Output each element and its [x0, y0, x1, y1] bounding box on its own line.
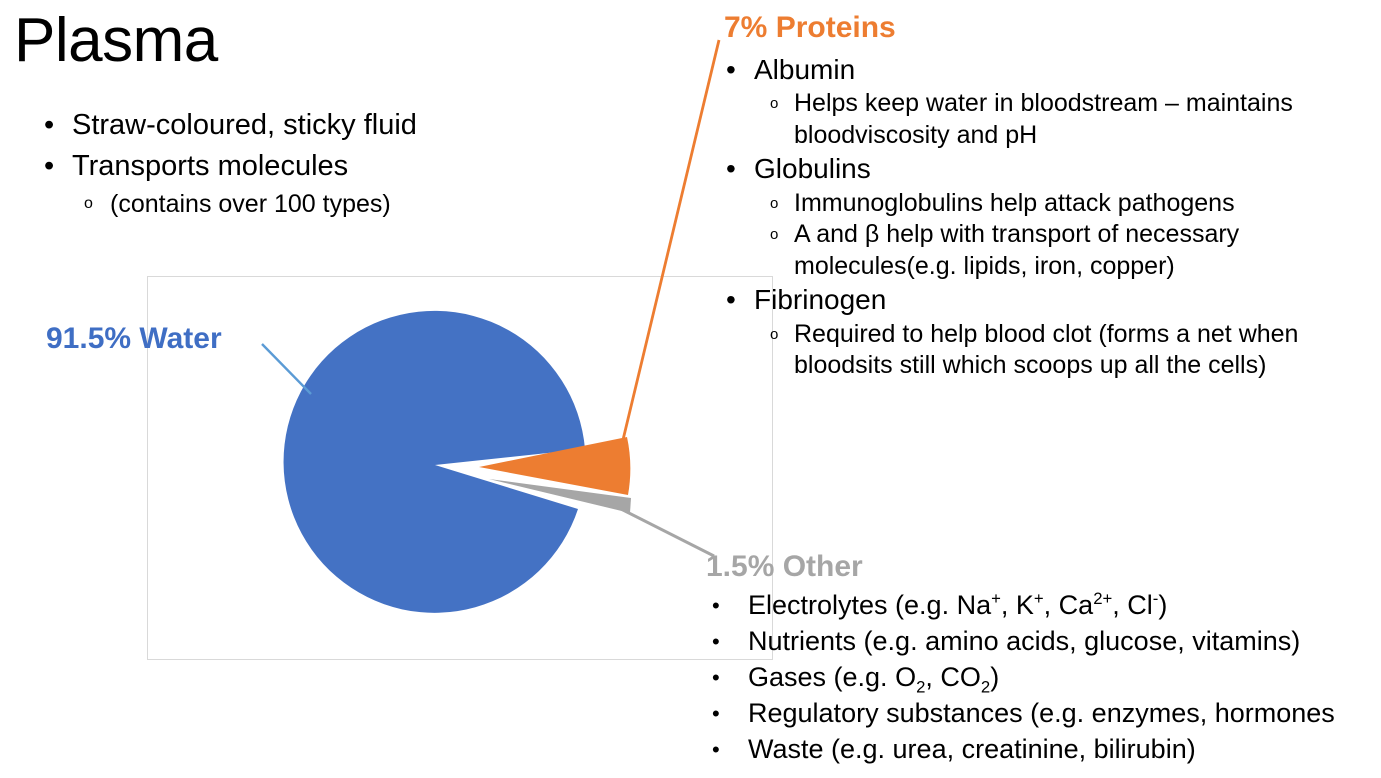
proteins-detail-list: • Albumin o Helps keep water in bloodstr…	[716, 52, 1381, 382]
list-item: o Required to help blood clot (forms a n…	[716, 319, 1381, 382]
list-item: • Albumin	[716, 52, 1381, 88]
list-item-label: Immunoglobulins help attack pathogens	[794, 189, 1235, 217]
list-item-label: Helps keep water in bloodstream – mainta…	[794, 89, 1293, 149]
page-title: Plasma	[14, 8, 218, 74]
bullet-circle-icon: o	[770, 319, 778, 350]
list-item-label: Gases (e.g. O2, CO2)	[748, 662, 999, 692]
list-item-label: A and β help with transport of necessary…	[794, 220, 1239, 280]
bullet-dot-icon: •	[726, 151, 736, 187]
list-item-label: Waste (e.g. urea, creatinine, bilirubin)	[748, 734, 1196, 764]
list-item: o Immunoglobulins help attack pathogens	[716, 188, 1381, 220]
list-item: • Straw-coloured, sticky fluid	[36, 105, 676, 146]
pie-label-water: 91.5% Water	[46, 322, 222, 356]
list-item-label: Albumin	[754, 54, 855, 85]
list-item: o Helps keep water in bloodstream – main…	[716, 88, 1381, 151]
list-item: • Fibrinogen	[716, 282, 1381, 318]
list-item-label: Straw-coloured, sticky fluid	[72, 109, 417, 141]
bullet-dot-icon: •	[44, 105, 54, 146]
list-item: • Globulins	[716, 151, 1381, 187]
list-item-label: (contains over 100 types)	[110, 190, 391, 218]
bullet-dot-icon: •	[44, 146, 54, 187]
list-item: • Waste (e.g. urea, creatinine, bilirubi…	[700, 732, 1381, 768]
bullet-dot-icon: •	[726, 52, 736, 88]
list-item: • Transports molecules	[36, 146, 676, 187]
bullet-circle-icon: o	[770, 219, 778, 250]
bullet-dot-icon: •	[712, 660, 720, 696]
bullet-dot-icon: •	[712, 696, 720, 732]
list-item: • Electrolytes (e.g. Na+, K+, Ca2+, Cl-)	[700, 588, 1381, 624]
list-item-label: Required to help blood clot (forms a net…	[794, 320, 1298, 380]
list-item: • Gases (e.g. O2, CO2)	[700, 660, 1381, 696]
list-item-label: Transports molecules	[72, 150, 348, 182]
bullet-dot-icon: •	[726, 282, 736, 318]
list-item: o A and β help with transport of necessa…	[716, 219, 1381, 282]
bullet-dot-icon: •	[712, 588, 720, 624]
list-item-label: Fibrinogen	[754, 284, 886, 315]
bullet-circle-icon: o	[770, 188, 778, 219]
list-item: o (contains over 100 types)	[36, 187, 676, 221]
list-item-label: Regulatory substances (e.g. enzymes, hor…	[748, 698, 1335, 728]
chart-plot-area-border	[147, 276, 773, 660]
plasma-overview-list: • Straw-coloured, sticky fluid • Transpo…	[36, 105, 676, 221]
other-detail-list: • Electrolytes (e.g. Na+, K+, Ca2+, Cl-)…	[700, 588, 1381, 768]
bullet-dot-icon: •	[712, 624, 720, 660]
list-item-label: Globulins	[754, 153, 871, 184]
list-item-label: Nutrients (e.g. amino acids, glucose, vi…	[748, 626, 1300, 656]
list-item: • Nutrients (e.g. amino acids, glucose, …	[700, 624, 1381, 660]
list-item: • Regulatory substances (e.g. enzymes, h…	[700, 696, 1381, 732]
pie-label-other: 1.5% Other	[706, 550, 863, 584]
bullet-circle-icon: o	[84, 187, 93, 221]
bullet-circle-icon: o	[770, 88, 778, 119]
slide-canvas: Plasma • Straw-coloured, sticky fluid • …	[0, 0, 1381, 778]
bullet-dot-icon: •	[712, 732, 720, 768]
pie-label-proteins: 7% Proteins	[724, 11, 896, 45]
list-item-label: Electrolytes (e.g. Na+, K+, Ca2+, Cl-)	[748, 590, 1167, 620]
